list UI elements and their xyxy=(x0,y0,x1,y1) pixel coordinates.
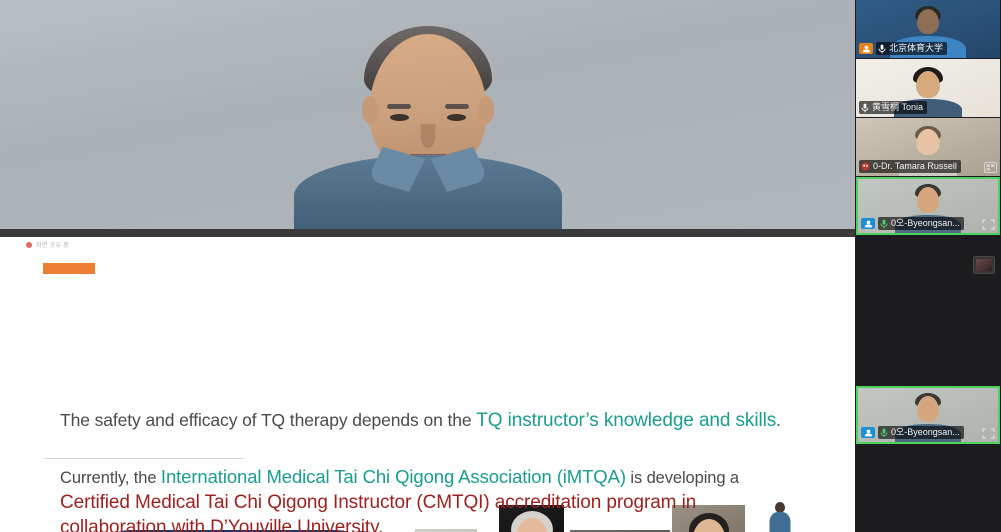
mic-status-5: 0오-Byeongsan... xyxy=(878,426,964,439)
expand-icon-4 xyxy=(982,219,995,230)
mic-status-2: 黄雪桐 Tonia xyxy=(859,101,927,114)
microphone-icon-4 xyxy=(880,219,888,229)
host-badge-icon-1 xyxy=(859,43,873,54)
active-speaker-video[interactable] xyxy=(0,0,855,229)
paragraph-2-text: Currently, the International Medical Tai… xyxy=(60,465,800,532)
slide-horizontal-rule xyxy=(44,458,244,459)
floating-thumbnail[interactable] xyxy=(973,256,995,274)
speaker-eye-right xyxy=(447,114,466,121)
tile-label-5: 0오-Byeongsan... xyxy=(861,426,964,439)
paragraph-2-highlight-teal: International Medical Tai Chi Qigong Ass… xyxy=(161,466,626,487)
participant-tile-4[interactable]: 0오-Byeongsan... xyxy=(856,177,1000,235)
microphone-icon-2 xyxy=(861,103,869,113)
tile-label-2: 黄雪桐 Tonia xyxy=(859,101,927,114)
tile-head-5 xyxy=(917,396,939,422)
tile-label-3: 0-Dr. Tamara Russell xyxy=(859,160,961,173)
tile-name-3: 0-Dr. Tamara Russell xyxy=(873,161,957,172)
participant-tile-1[interactable]: 北京体育大学 xyxy=(856,0,1000,58)
speaker-person-graphic xyxy=(278,0,578,229)
tile-head-4 xyxy=(917,187,939,213)
main-content-area: 화면 공유 중 ☗ ☖ As xyxy=(0,0,855,532)
paragraph-1-lead: The safety and efficacy of TQ therapy de… xyxy=(60,410,476,430)
mic-status-4: 0오-Byeongsan... xyxy=(878,217,964,230)
speaker-ear-left xyxy=(362,96,378,124)
screen-share-divider xyxy=(0,229,855,237)
speaker-brow-right xyxy=(445,104,469,109)
tile-head-2 xyxy=(916,71,940,98)
host-badge-icon-4 xyxy=(861,218,875,229)
avatar-icon-3 xyxy=(861,162,870,171)
host-badge-icon-5 xyxy=(861,427,875,438)
slide-accent-bar xyxy=(43,263,95,274)
microphone-icon-1 xyxy=(878,44,886,54)
speaker-nose xyxy=(420,124,435,148)
participant-tile-5[interactable]: 0오-Byeongsan... xyxy=(856,386,1000,444)
tile-name-4: 0오-Byeongsan... xyxy=(891,218,960,229)
mic-status-1: 北京体育大学 xyxy=(876,42,947,55)
microphone-icon-5 xyxy=(880,428,888,438)
recording-indicator: 화면 공유 중 xyxy=(26,240,69,249)
tile-label-4: 0오-Byeongsan... xyxy=(861,217,964,230)
floating-thumbnail-image xyxy=(976,259,992,271)
participant-filmstrip[interactable]: 北京体育大学 黄雪桐 Tonia xyxy=(855,0,1001,532)
paragraph-1-tail: . xyxy=(776,410,781,430)
slide-paragraph-1: The safety and efficacy of TQ therapy de… xyxy=(60,408,800,433)
tile-head-1 xyxy=(917,9,939,34)
paragraph-1-highlight: TQ instructor’s knowledge and skills xyxy=(476,410,776,431)
mic-status-3: 0-Dr. Tamara Russell xyxy=(859,160,961,173)
participant-tile-2[interactable]: 黄雪桐 Tonia xyxy=(856,59,1000,117)
tile-name-5: 0오-Byeongsan... xyxy=(891,427,960,438)
tile-name-1: 北京体育大学 xyxy=(889,43,943,54)
tile-name-2: 黄雪桐 Tonia xyxy=(872,102,923,113)
speaker-ear-right xyxy=(478,96,494,124)
speaker-brow-left xyxy=(387,104,411,109)
participant-tile-3[interactable]: 0-Dr. Tamara Russell xyxy=(856,118,1000,176)
view-options-icon-3 xyxy=(984,162,997,173)
tile-head-3 xyxy=(917,129,940,155)
paragraph-2-highlight-red: Certified Medical Tai Chi Qigong Instruc… xyxy=(60,492,696,532)
recording-dot xyxy=(26,242,32,248)
slide-paragraph-2: Currently, the International Medical Tai… xyxy=(60,465,800,532)
paragraph-1-text: The safety and efficacy of TQ therapy de… xyxy=(60,408,800,433)
tile-label-1: 北京体育大学 xyxy=(859,42,947,55)
paragraph-2-lead: Currently, the xyxy=(60,469,161,487)
speaker-eye-left xyxy=(390,114,409,121)
paragraph-2-mid: is developing a xyxy=(626,469,739,487)
conference-window: 화면 공유 중 ☗ ☖ As xyxy=(0,0,1001,532)
recording-label: 화면 공유 중 xyxy=(36,240,69,249)
shared-slide[interactable]: 화면 공유 중 ☗ ☖ As xyxy=(0,237,855,532)
expand-icon-5 xyxy=(982,428,995,439)
speaker-torso xyxy=(294,155,562,229)
